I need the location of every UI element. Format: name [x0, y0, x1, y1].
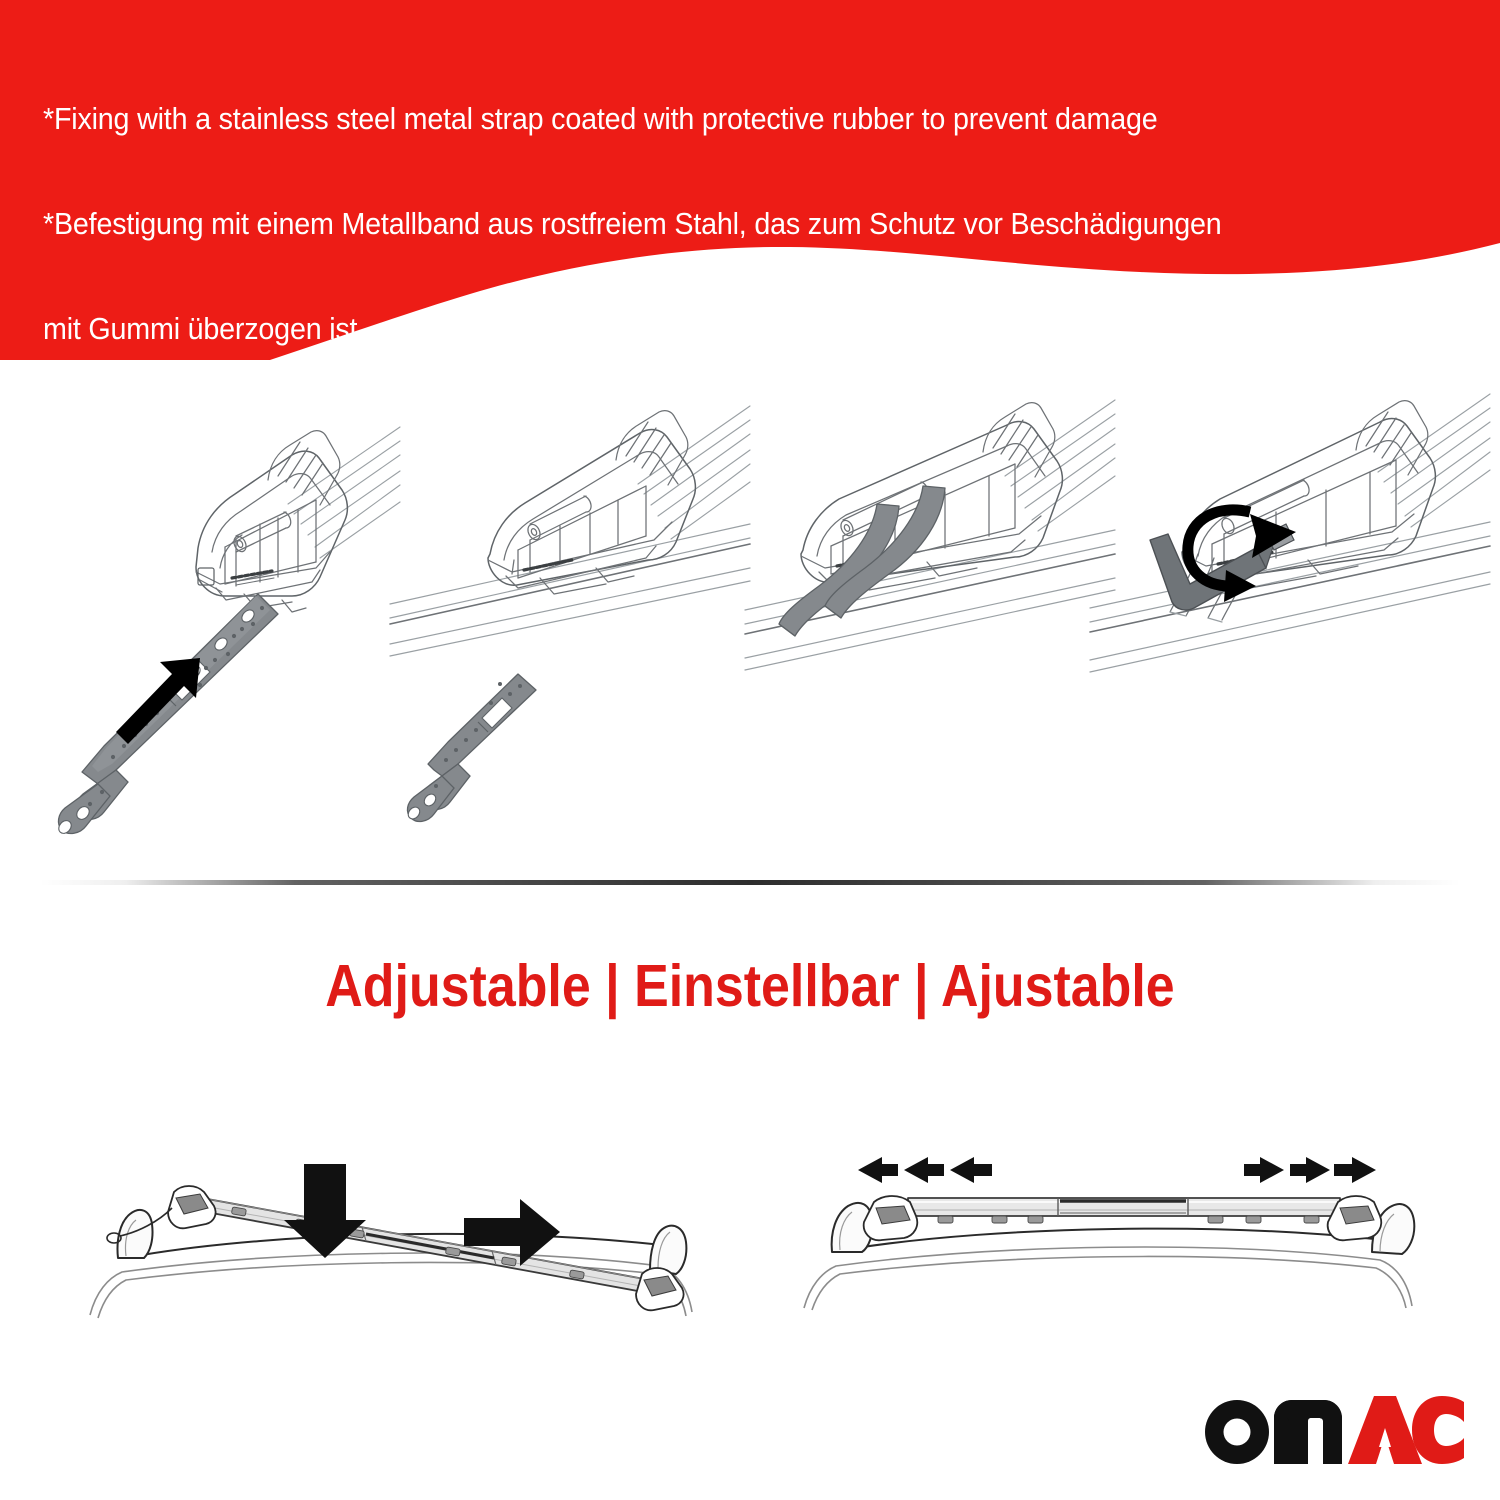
section-divider: [40, 880, 1460, 885]
page-headline: Adjustable | Einstellbar | Ajustable: [90, 952, 1410, 1020]
omac-logo: [1198, 1388, 1464, 1466]
metal-strap: [406, 674, 536, 821]
arrow-down-icon: [284, 1164, 366, 1258]
product-infographic: *Fixing with a stainless steel metal str…: [0, 0, 1500, 1500]
strap-insertion-illustration: [20, 372, 400, 872]
instruction-panel-3: [745, 372, 1115, 872]
logo-letter-c: [1412, 1396, 1464, 1464]
banner-line-1: *Fixing with a stainless steel metal str…: [43, 102, 1368, 137]
triple-arrow-right-icon: [1244, 1157, 1376, 1183]
banner-line-2: *Befestigung mit einem Metallband aus ro…: [43, 207, 1368, 242]
instruction-panel-2: [390, 372, 750, 872]
crossbar-placement-illustration: [50, 1080, 750, 1380]
instruction-panels: [0, 372, 1500, 872]
triple-arrow-left-icon: [858, 1157, 992, 1183]
metal-strap: [56, 594, 278, 836]
logo-letter-a: [1348, 1396, 1422, 1464]
instruction-panel-1: [20, 372, 400, 872]
logo-letter-m: [1274, 1400, 1342, 1464]
tighten-with-hex-key-illustration: [1090, 372, 1490, 872]
bottom-illustrations: [0, 1080, 1500, 1380]
instruction-panel-4: [1090, 372, 1490, 872]
banner: *Fixing with a stainless steel metal str…: [0, 0, 1500, 360]
strap-wrapped-illustration: [745, 372, 1115, 872]
crossbar-width-adjust-illustration: [770, 1080, 1470, 1380]
foot-on-rail-illustration: [390, 372, 750, 872]
banner-line-3: mit Gummi überzogen ist: [43, 312, 1368, 347]
logo-letter-o: [1205, 1400, 1269, 1464]
